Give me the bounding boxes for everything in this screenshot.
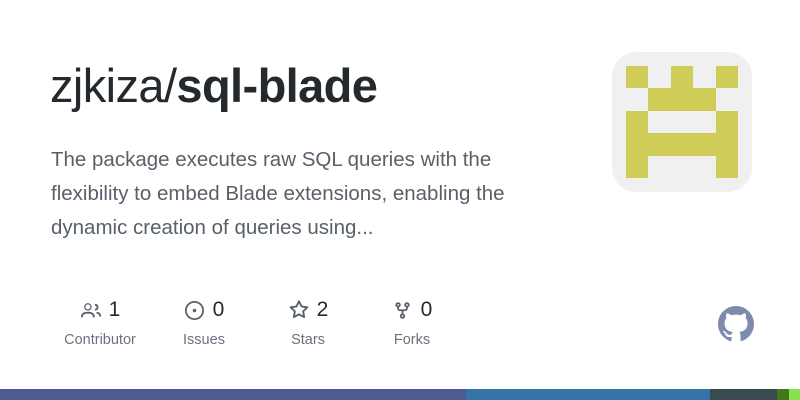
identicon-cell-4-0 bbox=[626, 156, 648, 178]
identicon-cell-4-2 bbox=[671, 156, 693, 178]
identicon-cell-0-3 bbox=[693, 66, 715, 88]
stat-issues-row: 0 bbox=[184, 297, 225, 323]
identicon-cell-1-1 bbox=[648, 88, 670, 110]
github-octocat-icon bbox=[718, 306, 754, 342]
language-bar-segment-3 bbox=[777, 389, 789, 400]
github-repository-social-card: zjkiza/sql-blade The package executes ra… bbox=[0, 0, 800, 400]
identicon-cell-4-3 bbox=[693, 156, 715, 178]
identicon-cell-3-2 bbox=[671, 133, 693, 155]
stat-contributors-row: 1 bbox=[80, 297, 121, 323]
repo-forked-icon bbox=[392, 299, 414, 321]
stat-contributors-value: 1 bbox=[109, 299, 121, 321]
identicon-grid bbox=[626, 66, 738, 178]
language-bar bbox=[0, 389, 800, 400]
identicon-cell-4-4 bbox=[716, 156, 738, 178]
language-bar-segment-1 bbox=[466, 389, 710, 400]
stat-forks: 0 Forks bbox=[360, 297, 464, 348]
identicon-cell-2-4 bbox=[716, 111, 738, 133]
identicon-cell-1-3 bbox=[693, 88, 715, 110]
identicon-cell-3-0 bbox=[626, 133, 648, 155]
stat-issues-value: 0 bbox=[213, 299, 225, 321]
identicon-cell-4-1 bbox=[648, 156, 670, 178]
issue-opened-icon bbox=[184, 299, 206, 321]
stat-forks-label: Forks bbox=[394, 332, 430, 348]
repository-name: sql-blade bbox=[176, 59, 377, 112]
stat-stars-label: Stars bbox=[291, 332, 325, 348]
language-bar-segment-0 bbox=[0, 389, 466, 400]
identicon-cell-2-1 bbox=[648, 111, 670, 133]
identicon-cell-1-4 bbox=[716, 88, 738, 110]
stat-contributors-label: Contributor bbox=[64, 332, 136, 348]
identicon-cell-0-2 bbox=[671, 66, 693, 88]
star-icon bbox=[288, 299, 310, 321]
repository-separator: / bbox=[164, 59, 176, 112]
stat-contributors: 1 Contributor bbox=[48, 297, 152, 348]
language-bar-segment-2 bbox=[710, 389, 777, 400]
identicon-cell-3-4 bbox=[716, 133, 738, 155]
language-bar-segment-4 bbox=[789, 389, 800, 400]
repository-title: zjkiza/sql-blade bbox=[50, 58, 377, 114]
repository-stats: 1 Contributor 0 Issues bbox=[48, 297, 464, 348]
identicon-cell-2-0 bbox=[626, 111, 648, 133]
stat-stars-value: 2 bbox=[317, 299, 329, 321]
stat-issues: 0 Issues bbox=[152, 297, 256, 348]
stat-stars: 2 Stars bbox=[256, 297, 360, 348]
identicon-cell-2-2 bbox=[671, 111, 693, 133]
identicon-cell-0-1 bbox=[648, 66, 670, 88]
stat-forks-row: 0 bbox=[392, 297, 433, 323]
identicon-cell-0-0 bbox=[626, 66, 648, 88]
identicon-cell-0-4 bbox=[716, 66, 738, 88]
identicon-cell-1-0 bbox=[626, 88, 648, 110]
stat-stars-row: 2 bbox=[288, 297, 329, 323]
repository-owner: zjkiza bbox=[50, 59, 164, 112]
identicon-cell-3-1 bbox=[648, 133, 670, 155]
identicon-cell-2-3 bbox=[693, 111, 715, 133]
stat-forks-value: 0 bbox=[421, 299, 433, 321]
stat-issues-label: Issues bbox=[183, 332, 225, 348]
identicon-avatar bbox=[612, 52, 752, 192]
repository-description: The package executes raw SQL queries wit… bbox=[51, 143, 571, 245]
people-icon bbox=[80, 299, 102, 321]
identicon-cell-1-2 bbox=[671, 88, 693, 110]
identicon-cell-3-3 bbox=[693, 133, 715, 155]
